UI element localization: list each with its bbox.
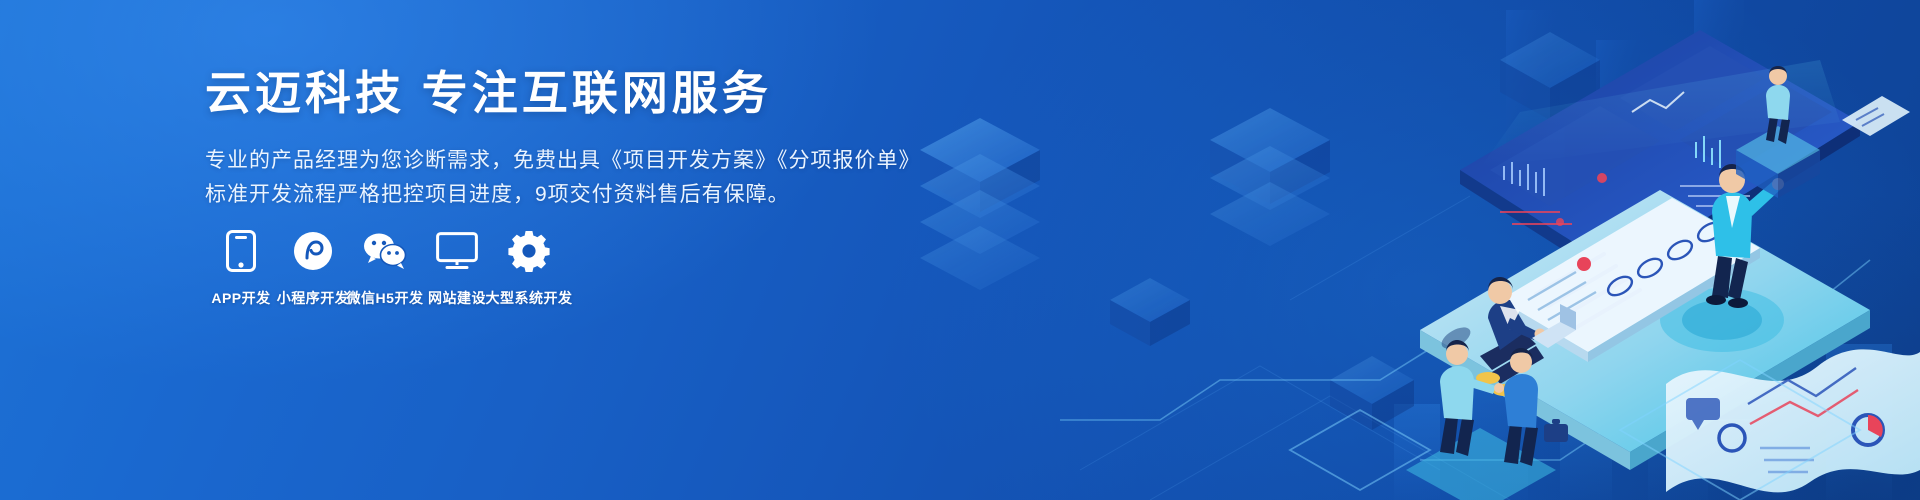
service-label: 微信H5开发 [347,288,424,308]
mobile-phone-icon [226,228,256,274]
service-item-wechat-h5[interactable]: 微信H5开发 [349,228,421,308]
service-item-website[interactable]: 网站建设 [421,228,493,308]
hero-text-column: 云迈科技 专注互联网服务 专业的产品经理为您诊断需求，免费出具《项目开发方案》《… [205,66,945,212]
gear-icon [508,228,550,274]
subtitle-line-2: 标准开发流程严格把控项目进度，9项交付资料售后有保障。 [205,178,945,212]
mini-program-icon [293,228,333,274]
service-label: 小程序开发 [277,288,350,308]
service-label: 网站建设 [428,288,486,308]
service-list: APP开发 小程序开发 [205,228,565,308]
monitor-icon [436,228,478,274]
hero-banner: 云迈科技 专注互联网服务 专业的产品经理为您诊断需求，免费出具《项目开发方案》《… [0,0,1920,500]
subtitle-line-1: 专业的产品经理为您诊断需求，免费出具《项目开发方案》《分项报价单》 [205,144,945,178]
hero-subtitle: 专业的产品经理为您诊断需求，免费出具《项目开发方案》《分项报价单》 标准开发流程… [205,144,945,212]
service-label: 大型系统开发 [486,288,573,308]
service-label: APP开发 [211,288,270,308]
service-item-large-system[interactable]: 大型系统开发 [493,228,565,308]
service-item-mini-program[interactable]: 小程序开发 [277,228,349,308]
hero-illustration [860,0,1920,500]
wechat-icon [363,228,407,274]
service-item-app[interactable]: APP开发 [205,228,277,308]
page-title: 云迈科技 专注互联网服务 [205,66,945,120]
